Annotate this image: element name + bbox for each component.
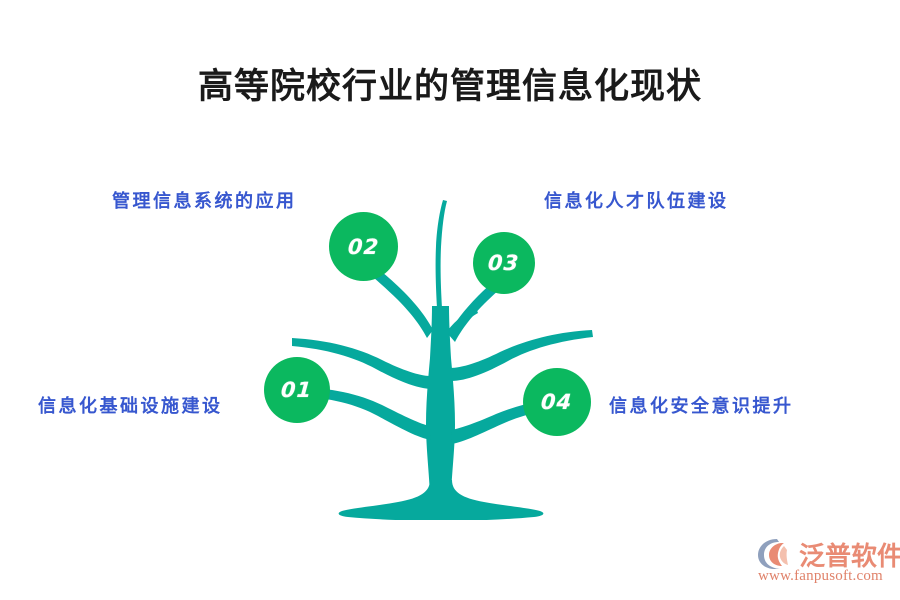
node-03-number: 03	[488, 251, 521, 275]
fanpu-swoosh-icon	[757, 537, 797, 571]
node-02[interactable]: 02	[329, 212, 398, 281]
logo-url: www.fanpusoft.com	[758, 568, 883, 585]
node-01-label: 信息化基础设施建设	[38, 392, 223, 418]
node-04[interactable]: 04	[523, 368, 591, 436]
node-01-number: 01	[281, 378, 314, 402]
infographic-canvas: 高等院校行业的管理信息化现状	[0, 0, 900, 600]
brand-logo: 泛普软件 www.fanpusoft.com	[757, 535, 897, 591]
page-title: 高等院校行业的管理信息化现状	[0, 58, 900, 109]
node-03-label: 信息化人才队伍建设	[544, 187, 729, 213]
node-01[interactable]: 01	[264, 357, 330, 423]
node-04-label: 信息化安全意识提升	[609, 392, 794, 418]
node-02-number: 02	[347, 235, 380, 259]
node-02-label: 管理信息系统的应用	[112, 187, 297, 213]
node-04-number: 04	[541, 390, 574, 414]
node-03[interactable]: 03	[473, 232, 535, 294]
